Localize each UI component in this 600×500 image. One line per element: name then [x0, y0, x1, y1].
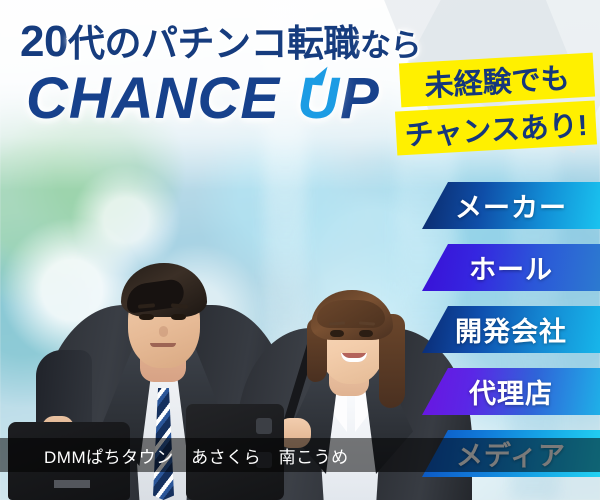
headline-kicker: 20代のパチンコ転職なら [20, 20, 421, 64]
handbag-clasp [256, 418, 272, 434]
man-nose [159, 326, 168, 337]
headline-age-number: 20 [20, 17, 68, 66]
caption-credit-text: DMMぱちタウン あさくら 南こうめ [44, 443, 349, 468]
category-label-development-company: 開発会社 [455, 310, 567, 349]
chance-up-logo: CHANCE UP [26, 70, 380, 128]
man-mouth [150, 343, 176, 347]
woman-eye-right [359, 330, 373, 337]
advertisement-banner[interactable]: 20代のパチンコ転職なら CHANCE UP 未経験でも チャンスあり! メーカ… [0, 0, 600, 500]
badge-no-experience-label: 未経験でも [423, 55, 570, 105]
caption-bar: DMMぱちタウン あさくら 南こうめ [0, 438, 600, 472]
headline-kicker-middle: 代のパチンコ転職 [68, 23, 360, 64]
man-eye-right [171, 314, 186, 320]
category-label-hall: ホール [469, 248, 553, 287]
woman-eye-left [330, 330, 344, 337]
category-label-maker: メーカー [455, 186, 567, 225]
category-button-agency[interactable]: 代理店 [422, 368, 600, 415]
category-label-agency: 代理店 [469, 372, 553, 411]
logo-word-chance: CHANCE [26, 66, 297, 131]
badge-chance-available-label: チャンスあり! [404, 102, 589, 154]
category-button-hall[interactable]: ホール [422, 244, 600, 291]
category-button-development-company[interactable]: 開発会社 [422, 306, 600, 353]
headline-kicker-tail: なら [360, 28, 421, 63]
logo-letter-p: P [340, 66, 380, 131]
man-eye-left [139, 314, 154, 320]
category-button-maker[interactable]: メーカー [422, 182, 600, 229]
briefcase-left-studs [54, 480, 90, 488]
logo-letter-u: U [297, 70, 340, 128]
